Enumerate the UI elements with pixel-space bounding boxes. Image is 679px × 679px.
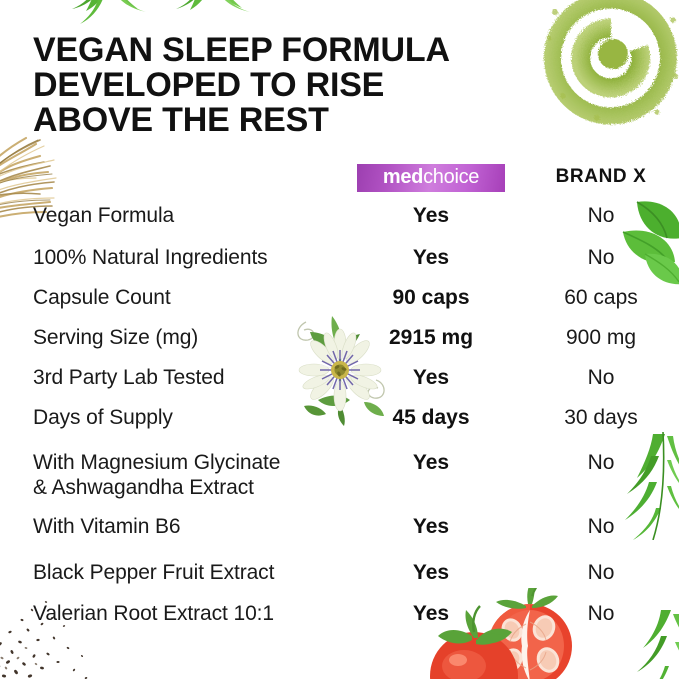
- row-feature-label: Serving Size (mg): [33, 325, 363, 350]
- row-feature-label: Vegan Formula: [33, 203, 363, 228]
- row-feature-label: With Magnesium Glycinate& Ashwagandha Ex…: [33, 450, 363, 500]
- row-feature-label: Capsule Count: [33, 285, 363, 310]
- row-feature-label-line: Valerian Root Extract 10:1: [33, 601, 363, 626]
- row-feature-label-line: & Ashwagandha Extract: [33, 475, 363, 500]
- row-medchoice-value: Yes: [352, 450, 510, 475]
- row-brandx-value: No: [512, 365, 679, 390]
- row-feature-label: 3rd Party Lab Tested: [33, 365, 363, 390]
- row-feature-label-line: With Vitamin B6: [33, 514, 363, 539]
- row-feature-label: 100% Natural Ingredients: [33, 245, 363, 270]
- headline-line-3: ABOVE THE REST: [33, 103, 573, 138]
- row-medchoice-value: Yes: [352, 514, 510, 539]
- row-brandx-value: No: [512, 450, 679, 475]
- row-feature-label-line: Days of Supply: [33, 405, 363, 430]
- row-medchoice-value: 2915 mg: [352, 325, 510, 350]
- headline-line-2: DEVELOPED TO RISE: [33, 68, 573, 103]
- brand-logo-bold-part: med: [383, 166, 423, 188]
- medchoice-brand-badge: medchoice: [357, 164, 505, 192]
- row-feature-label: Valerian Root Extract 10:1: [33, 601, 363, 626]
- brand-logo-light-part: choice: [423, 166, 479, 188]
- row-brandx-value: No: [512, 601, 679, 626]
- brand-logo-text: medchoice: [383, 167, 479, 187]
- row-feature-label-line: 100% Natural Ingredients: [33, 245, 363, 270]
- row-feature-label-line: Black Pepper Fruit Extract: [33, 560, 363, 585]
- row-feature-label-line: With Magnesium Glycinate: [33, 450, 363, 475]
- row-medchoice-value: Yes: [352, 365, 510, 390]
- row-brandx-value: 900 mg: [512, 325, 679, 350]
- row-feature-label: With Vitamin B6: [33, 514, 363, 539]
- row-medchoice-value: Yes: [352, 245, 510, 270]
- row-feature-label-line: 3rd Party Lab Tested: [33, 365, 363, 390]
- row-feature-label: Days of Supply: [33, 405, 363, 430]
- row-medchoice-value: Yes: [352, 203, 510, 228]
- row-feature-label-line: Serving Size (mg): [33, 325, 363, 350]
- row-feature-label-line: Vegan Formula: [33, 203, 363, 228]
- row-brandx-value: No: [512, 560, 679, 585]
- row-medchoice-value: 45 days: [352, 405, 510, 430]
- row-brandx-value: 60 caps: [512, 285, 679, 310]
- row-brandx-value: 30 days: [512, 405, 679, 430]
- page-title: VEGAN SLEEP FORMULA DEVELOPED TO RISE AB…: [33, 33, 573, 138]
- row-feature-label-line: Capsule Count: [33, 285, 363, 310]
- row-brandx-value: No: [512, 514, 679, 539]
- row-brandx-value: No: [512, 245, 679, 270]
- row-medchoice-value: Yes: [352, 601, 510, 626]
- row-feature-label: Black Pepper Fruit Extract: [33, 560, 363, 585]
- infographic-canvas: VEGAN SLEEP FORMULA DEVELOPED TO RISE AB…: [0, 0, 679, 679]
- brandx-column-header: BRAND X: [507, 166, 679, 188]
- row-brandx-value: No: [512, 203, 679, 228]
- row-medchoice-value: Yes: [352, 560, 510, 585]
- row-medchoice-value: 90 caps: [352, 285, 510, 310]
- headline-line-1: VEGAN SLEEP FORMULA: [33, 33, 573, 68]
